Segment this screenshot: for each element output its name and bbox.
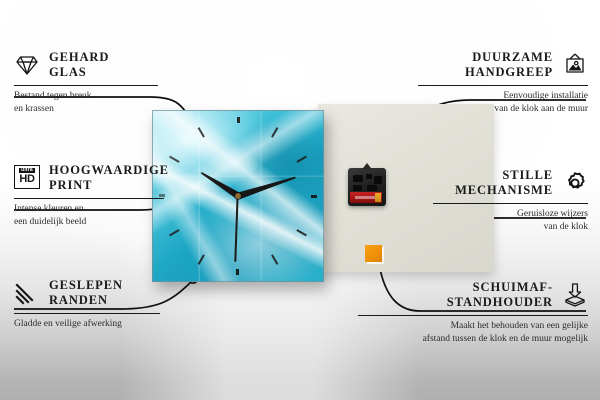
feature-heading-row: GESLEPEN RANDEN [14,278,166,308]
feature-title: GEHARD GLAS [49,50,109,80]
diamond-icon [14,52,40,78]
feature-description: Geruisloze wijzers van de klok [428,208,588,233]
feature-heading-row: SCHUIMAF- STANDHOUDER [353,280,588,310]
clock-tick-3 [311,195,317,198]
feature-description: Maakt het behouden van een gelijke afsta… [353,320,588,345]
feature-geslepen-randen: GESLEPEN RANDEN Gladde en veilige afwerk… [14,278,166,331]
feature-divider [418,85,588,87]
foam-spacer [365,245,382,262]
feature-title: DUURZAME HANDGREEP [465,50,553,80]
feature-description: Eenvoudige installatie van de klok aan d… [413,90,588,115]
hanging-picture-frame-icon [562,52,588,78]
glass-wall-clock [152,110,324,282]
movement-slot-b [366,174,372,179]
gear-icon [562,170,588,196]
feature-description: Gladde en veilige afwerking [14,318,166,331]
movement-slot-d [353,185,362,191]
clock-tick-6 [236,269,239,275]
feature-title: GESLEPEN RANDEN [49,278,123,308]
feature-description: Bestand tegen breuk en krassen [14,90,164,115]
infographic-canvas: GEHARD GLAS Bestand tegen breuk en krass… [0,0,600,400]
feature-heading-row: GEHARD GLAS [14,50,164,80]
feature-stille-mechanisme: STILLE MECHANISME Geruisloze wijzers van… [428,168,588,233]
ultra-hd-icon: ultra HD [14,165,40,191]
feature-divider [433,203,588,205]
feature-gehard-glas: GEHARD GLAS Bestand tegen breuk en krass… [14,50,164,115]
movement-slot-a [353,175,363,182]
feature-hoogwaardige-print: ultra HD HOOGWAARDIGE PRINT Intense kleu… [14,163,174,228]
clock-center-cap [235,193,241,199]
movement-slot-c [374,176,382,184]
feature-title: HOOGWAARDIGE PRINT [49,163,169,193]
bevelled-edges-icon [14,280,40,306]
arrow-onto-pad-icon [562,282,588,308]
feature-description: Intense kleuren en een duidelijk beeld [14,203,174,228]
feature-divider [14,85,158,87]
feature-duurzame-handgreep: DUURZAME HANDGREEP Eenvoudige installati… [413,50,588,115]
feature-schuimafstandhouder: SCHUIMAF- STANDHOUDER Maakt het behouden… [353,280,588,345]
ultra-hd-icon-main-label: HD [19,174,34,185]
feature-heading-row: STILLE MECHANISME [428,168,588,198]
feature-heading-row: ultra HD HOOGWAARDIGE PRINT [14,163,174,193]
clock-battery [350,192,382,203]
feature-divider [14,198,164,200]
feature-title: STILLE MECHANISME [455,168,553,198]
clock-movement-mechanism [348,168,386,206]
feature-divider [358,315,588,317]
clock-tick-12 [237,117,240,123]
battery-positive-terminal [375,193,381,202]
movement-slot-e [367,185,377,191]
feature-title: SCHUIMAF- STANDHOUDER [447,280,553,310]
feature-heading-row: DUURZAME HANDGREEP [413,50,588,80]
feature-divider [14,313,160,315]
battery-label-band [355,196,375,199]
